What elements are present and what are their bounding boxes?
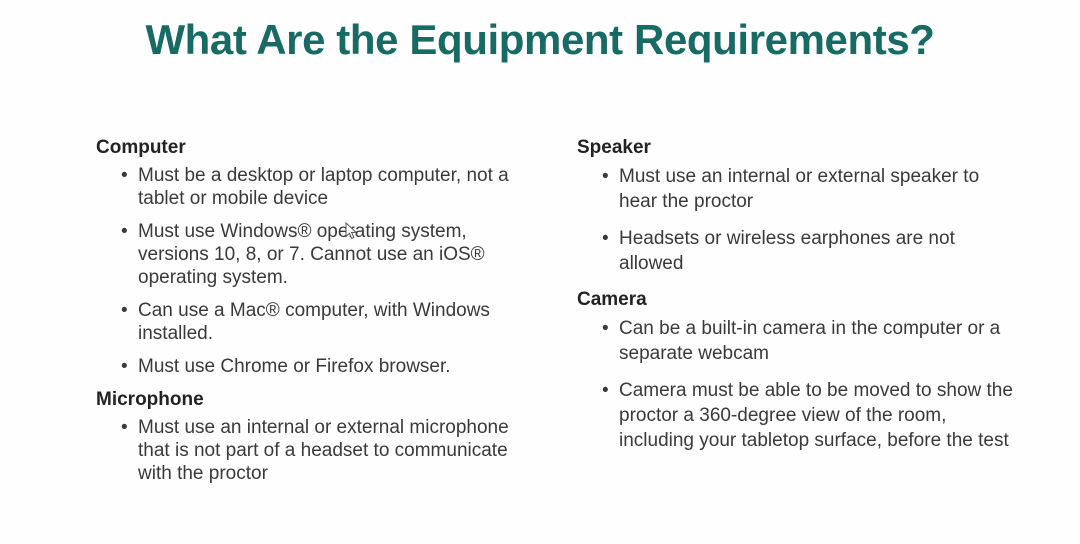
bullet-icon: • [602, 378, 609, 403]
list-item-text: Headsets or wireless earphones are not a… [619, 228, 955, 274]
list-item: • Can use a Mac® computer, with Windows … [96, 299, 536, 345]
left-column: Computer • Must be a desktop or laptop c… [96, 136, 536, 495]
list-item: • Must use Windows® operating system, ve… [96, 220, 536, 289]
bullet-icon: • [121, 164, 128, 187]
list-item: • Must use an internal or external speak… [577, 164, 1017, 214]
list-item-text: Must use Windows® operating system, vers… [138, 221, 485, 288]
slide-canvas: What Are the Equipment Requirements? Com… [0, 0, 1080, 544]
section-heading-speaker: Speaker [577, 136, 1017, 160]
section-speaker: Speaker • Must use an internal or extern… [577, 136, 1017, 276]
section-microphone: Microphone • Must use an internal or ext… [96, 388, 536, 485]
list-item: • Must use an internal or external micro… [96, 416, 536, 485]
section-heading-microphone: Microphone [96, 388, 536, 412]
bullet-icon: • [602, 164, 609, 189]
list-item-text: Can be a built-in camera in the computer… [619, 318, 1000, 364]
section-heading-computer: Computer [96, 136, 536, 160]
section-computer: Computer • Must be a desktop or laptop c… [96, 136, 536, 378]
bullet-list-computer: • Must be a desktop or laptop computer, … [96, 164, 536, 378]
bullet-icon: • [602, 316, 609, 341]
bullet-icon: • [602, 226, 609, 251]
list-item: • Camera must be able to be moved to sho… [577, 378, 1017, 453]
list-item: • Must use Chrome or Firefox browser. [96, 355, 536, 378]
bullet-list-camera: • Can be a built-in camera in the comput… [577, 316, 1017, 453]
bullet-list-microphone: • Must use an internal or external micro… [96, 416, 536, 485]
list-item-text: Must use Chrome or Firefox browser. [138, 356, 451, 377]
bullet-list-speaker: • Must use an internal or external speak… [577, 164, 1017, 276]
bullet-icon: • [121, 355, 128, 378]
bullet-icon: • [121, 220, 128, 243]
list-item-text: Must use an internal or external microph… [138, 417, 509, 484]
page-title: What Are the Equipment Requirements? [0, 16, 1080, 64]
list-item-text: Must be a desktop or laptop computer, no… [138, 165, 509, 209]
list-item-text: Can use a Mac® computer, with Windows in… [138, 300, 490, 344]
list-item: • Can be a built-in camera in the comput… [577, 316, 1017, 366]
section-camera: Camera • Can be a built-in camera in the… [577, 288, 1017, 453]
right-column: Speaker • Must use an internal or extern… [577, 136, 1017, 465]
section-heading-camera: Camera [577, 288, 1017, 312]
list-item: • Must be a desktop or laptop computer, … [96, 164, 536, 210]
content-columns: Computer • Must be a desktop or laptop c… [0, 136, 1080, 536]
bullet-icon: • [121, 416, 128, 439]
list-item-text: Camera must be able to be moved to show … [619, 380, 1013, 451]
list-item-text: Must use an internal or external speaker… [619, 166, 979, 212]
list-item: • Headsets or wireless earphones are not… [577, 226, 1017, 276]
bullet-icon: • [121, 299, 128, 322]
